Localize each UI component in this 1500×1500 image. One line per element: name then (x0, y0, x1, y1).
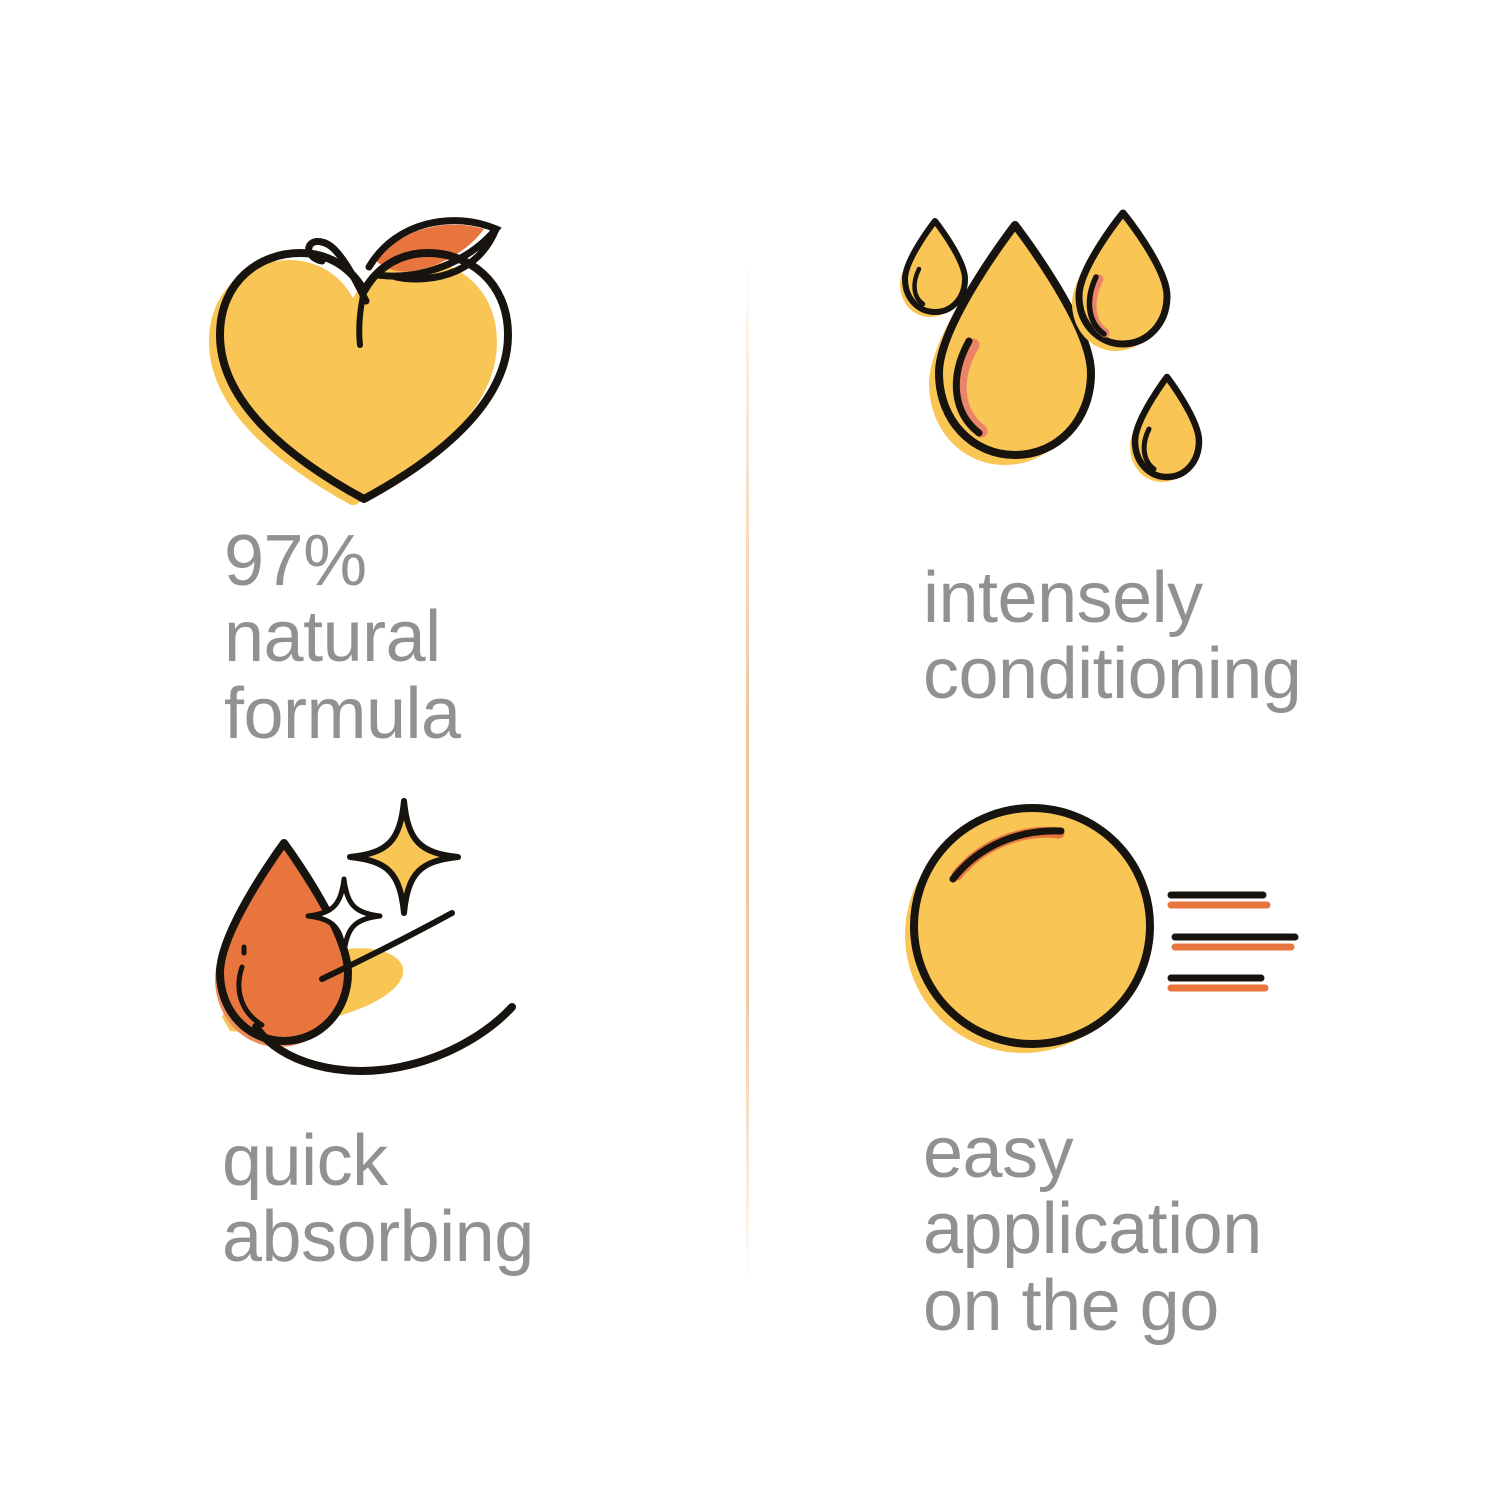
peach-icon (200, 205, 530, 510)
rolling-ball-icon (895, 795, 1315, 1070)
feature-card-easy-application: easy application on the go (895, 795, 1415, 1355)
droplet-on-skin-icon (200, 795, 540, 1100)
feature-caption-natural-formula: 97% natural formula (224, 523, 461, 752)
infographic-canvas: 97% natural formula (0, 0, 1500, 1500)
feature-card-quick-absorbing: quick absorbing (200, 795, 720, 1335)
feature-card-natural-formula: 97% natural formula (200, 205, 720, 745)
oil-droplets-icon (895, 205, 1235, 540)
vertical-divider (746, 265, 749, 1285)
feature-caption-easy-application: easy application on the go (923, 1115, 1262, 1344)
feature-caption-quick-absorbing: quick absorbing (222, 1123, 534, 1276)
feature-caption-intensely-conditioning: intensely conditioning (923, 560, 1301, 713)
feature-card-intensely-conditioning: intensely conditioning (895, 205, 1415, 745)
